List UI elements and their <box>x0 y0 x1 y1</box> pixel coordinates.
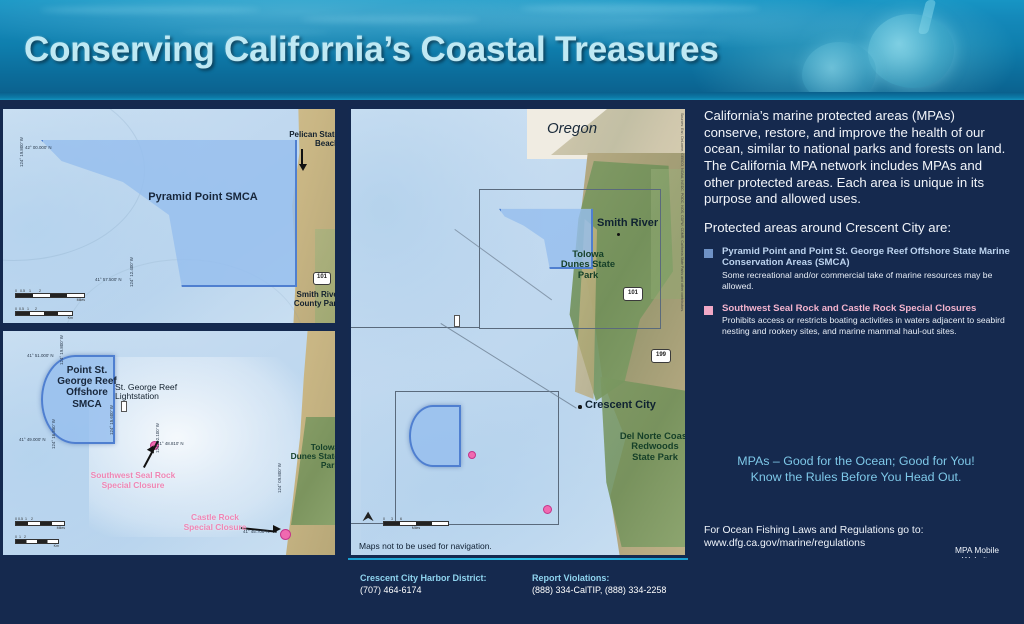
mpa-polygon-point-st-george-overview[interactable] <box>409 405 461 467</box>
closure-label-castle-rock: Castle Rock Special Closure <box>181 513 249 532</box>
caustic-light <box>520 4 760 13</box>
coordinate-label: 124° 15.600' W <box>109 405 114 435</box>
coordinate-label: 124° 12.100' W <box>155 423 160 453</box>
slogan-block: MPAs – Good for the Ocean; Good for You!… <box>696 453 1016 486</box>
coordinate-label: 124° 09.800' W <box>277 463 282 493</box>
place-label-smith-river: Smith River <box>597 217 658 229</box>
regulations-link-label: For Ocean Fishing Laws and Regulations g… <box>704 524 923 537</box>
city-dot <box>578 405 582 409</box>
banner-divider <box>0 92 1024 100</box>
scale-unit-label: Miles <box>15 526 65 530</box>
report-violations-contact: Report Violations: (888) 334-CalTIP, (88… <box>532 572 666 596</box>
legend-swatch-blue <box>704 249 713 258</box>
list-item-smca[interactable]: Pyramid Point and Point St. George Reef … <box>704 246 1010 292</box>
list-item-title: Pyramid Point and Point St. George Reef … <box>722 246 1010 269</box>
mpa-label-point-st-george: Point St. George Reef Offshore SMCA <box>53 365 121 410</box>
list-item-title: Southwest Seal Rock and Castle Rock Spec… <box>722 303 1010 315</box>
header-banner: Conserving California’s Coastal Treasure… <box>0 0 1024 100</box>
subheading: Protected areas around Crescent City are… <box>696 220 1016 235</box>
coordinate-label: 124° 19.800' W <box>59 335 64 365</box>
legend-swatch-pink <box>704 306 713 315</box>
scale-unit-label: Km <box>15 544 59 548</box>
report-violations-label: Report Violations: <box>532 573 609 583</box>
caustic-light <box>300 16 480 23</box>
coordinate-label: 41° 51.000' N <box>27 353 54 358</box>
scale-bar-km: 0 1 2 Km <box>15 535 59 548</box>
slogan-line-2: Know the Rules Before You Head Out. <box>696 469 1016 485</box>
place-label-del-norte-redwoods: Del Norte Coast Redwoods State Park <box>619 431 688 462</box>
scale-bar-miles: 0 0.5 1 2 Miles <box>15 289 85 302</box>
closure-marker-castle-rock-overview[interactable] <box>543 505 552 514</box>
map-credit-text: Sources: Esri, DeLorme, GEBCO, NOAA, NGD… <box>680 113 684 312</box>
city-dot <box>617 233 620 236</box>
place-label-oregon: Oregon <box>547 121 597 138</box>
list-item-special-closures[interactable]: Southwest Seal Rock and Castle Rock Spec… <box>704 303 1010 338</box>
intro-paragraph: California’s marine protected areas (MPA… <box>696 106 1016 208</box>
place-label-st-george-reef-lightstation: St. George Reef Lightstation <box>115 383 185 402</box>
coordinate-label: 41° 48.810' N <box>157 441 184 446</box>
leader-line <box>302 149 304 165</box>
harbor-district-label: Crescent City Harbor District: <box>360 573 487 583</box>
grid-line <box>351 327 479 328</box>
page-title: Conserving California’s Coastal Treasure… <box>24 30 719 70</box>
coordinate-label: 41° 49.000' N <box>19 437 46 442</box>
route-shield-101: 101 <box>313 272 331 285</box>
mpa-label-pyramid-point: Pyramid Point SMCA <box>133 191 273 203</box>
map-disclaimer: Maps not to be used for navigation. <box>359 541 492 551</box>
closure-marker-seal-rock-overview[interactable] <box>468 451 476 459</box>
closure-marker-castle-rock[interactable] <box>280 529 291 540</box>
lighthouse-icon <box>454 315 460 327</box>
list-item-description: Some recreational and/or commercial take… <box>722 270 1010 292</box>
scale-unit-label: Miles <box>15 298 85 302</box>
lighthouse-icon <box>121 401 127 412</box>
coordinate-label: 41° 45.700' N <box>243 529 270 534</box>
place-label-smith-river-county-park: Smith River County Park <box>287 291 338 309</box>
scale-unit-label: Miles <box>383 526 449 530</box>
harbor-district-phone: (707) 464-6174 <box>360 585 422 595</box>
coordinate-label: 42° 00.000' N <box>25 145 52 150</box>
place-label-tolowa-dunes: Tolowa Dunes State Park <box>285 443 338 471</box>
protected-area-list: Pyramid Point and Point St. George Reef … <box>696 246 1016 338</box>
poster-root: Conserving California’s Coastal Treasure… <box>0 0 1024 624</box>
coordinate-label: 41° 57.500' N <box>95 277 122 282</box>
footer-bar: CALIFORNIA FISH &WILDLIFE CALIFORNIA MAR… <box>0 558 1024 624</box>
regulations-link-block[interactable]: For Ocean Fishing Laws and Regulations g… <box>704 524 923 551</box>
leader-arrowhead <box>273 525 281 533</box>
coordinate-label: 124° 19.800' W <box>19 137 24 167</box>
scale-bar-miles: 0 3 6 Miles <box>383 517 449 530</box>
place-label-crescent-city: Crescent City <box>585 399 656 411</box>
map-point-st-george[interactable]: Point St. George Reef Offshore SMCA St. … <box>0 328 338 558</box>
scale-bar-miles: 0 0.5 1 2 Miles <box>15 517 65 530</box>
place-label-tolowa-dunes-overview: Tolowa Dunes State Park <box>557 249 619 280</box>
leader-arrowhead <box>299 164 307 171</box>
place-label-pelican-state-beach: Pelican State Beach <box>281 131 338 149</box>
caustic-light <box>40 6 260 14</box>
regulations-link-url[interactable]: www.dfg.ca.gov/marine/regulations <box>704 537 923 550</box>
map-overview-crescent-city[interactable]: Oregon Smith River Tolowa Dunes State Pa… <box>348 106 688 558</box>
closure-label-southwest-seal-rock: Southwest Seal Rock Special Closure <box>89 471 177 490</box>
info-panel: California’s marine protected areas (MPA… <box>696 106 1016 558</box>
harbor-district-contact: Crescent City Harbor District: (707) 464… <box>360 572 487 596</box>
scale-bar-km: 0 0.5 1 2 Km <box>15 307 73 320</box>
coordinate-label: 124° 12.400' W <box>129 257 134 287</box>
sunfish-icon <box>868 14 954 88</box>
route-shield-199-overview: 199 <box>651 349 671 363</box>
north-arrow-icon: ⮝ <box>363 509 373 524</box>
route-shield-101-overview: 101 <box>623 287 643 301</box>
list-item-description: Prohibits access or restricts boating ac… <box>722 315 1010 337</box>
footer-divider <box>348 558 688 560</box>
report-violations-phone: (888) 334-CalTIP, (888) 334-2258 <box>532 585 666 595</box>
coordinate-label: 124° 16.550' W <box>51 419 56 449</box>
scale-unit-label: Km <box>15 316 73 320</box>
slogan-line-1: MPAs – Good for the Ocean; Good for You! <box>696 453 1016 469</box>
map-pyramid-point[interactable]: Pyramid Point SMCA Pelican State Beach S… <box>0 106 338 326</box>
